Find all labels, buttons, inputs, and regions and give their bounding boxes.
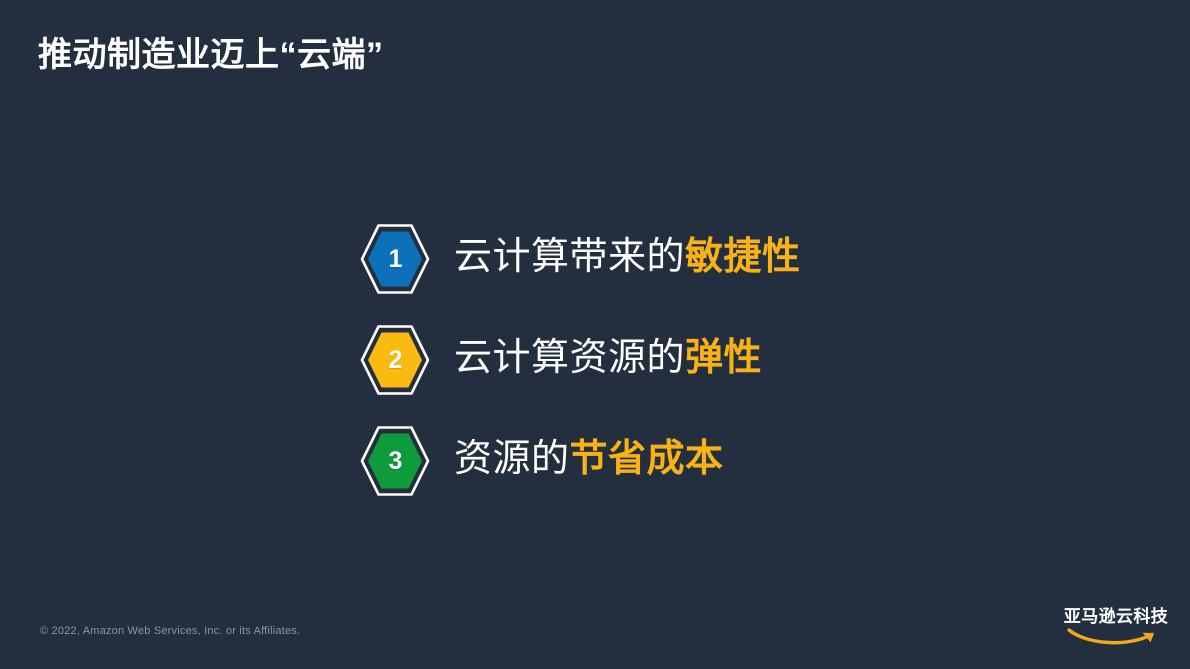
list-item-text-plain: 资源的: [454, 438, 570, 480]
aws-smile-arrow-icon: [1062, 624, 1170, 646]
copyright-notice: © 2022, Amazon Web Services, Inc. or its…: [40, 625, 300, 637]
hexagon-badge-3: 3: [358, 424, 432, 498]
list-item[interactable]: 1 云计算带来的敏捷性: [358, 222, 1118, 296]
list-item[interactable]: 3 资源的节省成本: [358, 424, 1118, 498]
hexagon-number: 3: [358, 424, 432, 498]
aws-logo: 亚马逊云科技: [1062, 602, 1170, 646]
list-item-text-plain: 云计算资源的: [454, 337, 685, 379]
bullet-list: 1 云计算带来的敏捷性 2 云计算资源的弹性: [358, 222, 1118, 498]
hexagon-badge-2: 2: [358, 323, 432, 397]
hexagon-number: 1: [358, 222, 432, 296]
list-item-text: 云计算带来的敏捷性: [454, 238, 801, 280]
list-item-text-highlight: 节省成本: [570, 438, 724, 480]
list-item-text: 云计算资源的弹性: [454, 339, 762, 381]
slide-canvas: 推动制造业迈上“云端” 1 云计算带来的敏捷性 2: [0, 0, 1190, 669]
list-item-text: 资源的节省成本: [454, 440, 724, 482]
hexagon-badge-1: 1: [358, 222, 432, 296]
list-item-text-plain: 云计算带来的: [454, 236, 685, 278]
hexagon-number: 2: [358, 323, 432, 397]
list-item-text-highlight: 敏捷性: [685, 236, 801, 278]
list-item[interactable]: 2 云计算资源的弹性: [358, 323, 1118, 397]
list-item-text-highlight: 弹性: [685, 337, 762, 379]
page-title: 推动制造业迈上“云端”: [38, 34, 384, 77]
